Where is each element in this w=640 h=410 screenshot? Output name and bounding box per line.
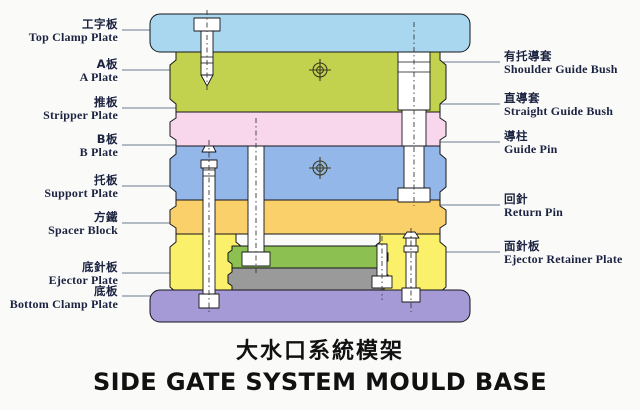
label-straight-guide-bush: 直導套 Straight Guide Bush <box>504 93 640 117</box>
title-cn: 大水口系統模架 <box>0 333 640 365</box>
label-shoulder-guide-bush: 有托導套 Shoulder Guide Bush <box>504 51 640 75</box>
label-support-plate: 托板 Support Plate <box>0 175 118 199</box>
label-en: Stripper Plate <box>0 109 118 121</box>
label-a-plate: A板 A Plate <box>0 59 118 83</box>
straight-guide-bush <box>402 110 426 146</box>
label-b-plate: B板 B Plate <box>0 134 118 158</box>
label-ejector-plate: 底針板 Ejector Plate <box>0 262 118 286</box>
label-en: Top Clamp Plate <box>0 31 118 43</box>
label-en: Support Plate <box>0 187 118 199</box>
label-en: B Plate <box>0 146 118 158</box>
label-ejector-retainer-plate: 面針板 Ejector Retainer Plate <box>504 241 640 265</box>
label-guide-pin: 導柱 Guide Pin <box>504 131 640 155</box>
label-en: Guide Pin <box>504 143 640 155</box>
title-en: SIDE GATE SYSTEM MOULD BASE <box>0 368 640 396</box>
label-bottom-clamp-plate: 底板 Bottom Clamp Plate <box>0 286 118 310</box>
label-en: Ejector Retainer Plate <box>504 253 640 265</box>
label-en: A Plate <box>0 71 118 83</box>
plate-ejector-plate <box>228 268 388 290</box>
diagram-stage: .ol{stroke:#15151a;stroke-width:1;stroke… <box>0 0 640 410</box>
label-en: Shoulder Guide Bush <box>504 63 640 75</box>
label-en: Straight Guide Bush <box>504 105 640 117</box>
label-return-pin: 回針 Return Pin <box>504 194 640 218</box>
diagram-title: 大水口系統模架 SIDE GATE SYSTEM MOULD BASE <box>0 333 640 396</box>
label-en: Spacer Block <box>0 224 118 236</box>
label-top-clamp-plate: 工字板 Top Clamp Plate <box>0 19 118 43</box>
label-stripper-plate: 推板 Stripper Plate <box>0 97 118 121</box>
label-en: Return Pin <box>504 206 640 218</box>
label-en: Bottom Clamp Plate <box>0 298 118 310</box>
plate-bottom-clamp-plate <box>150 290 470 322</box>
label-spacer-block: 方鐵 Spacer Block <box>0 212 118 236</box>
